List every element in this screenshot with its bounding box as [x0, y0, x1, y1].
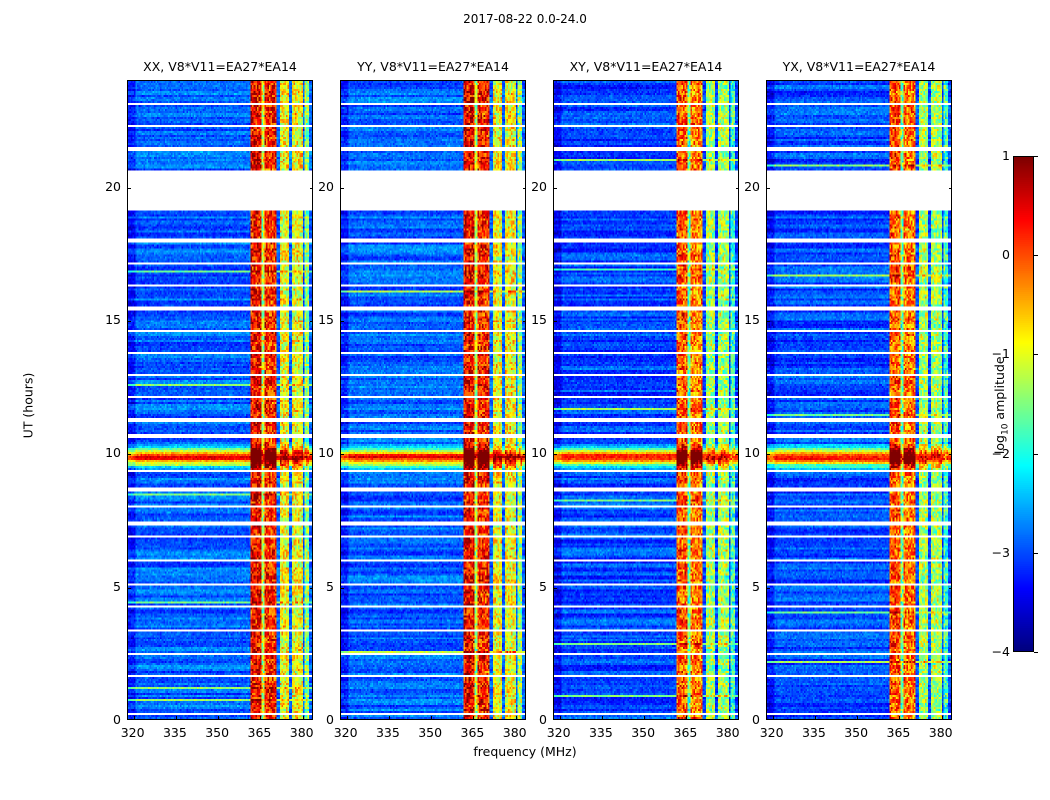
y-tick: [949, 188, 952, 189]
y-tick-label: 15: [726, 313, 760, 327]
y-tick-label: 0: [726, 713, 760, 727]
y-tick-label: 5: [513, 580, 547, 594]
y-tick: [340, 321, 344, 322]
x-tick-label: 365: [452, 726, 492, 740]
x-tick: [260, 716, 261, 720]
x-tick-label: 335: [368, 726, 408, 740]
y-tick: [553, 321, 557, 322]
y-tick-label: 0: [300, 713, 334, 727]
y-tick: [127, 588, 131, 589]
y-tick: [766, 188, 770, 189]
colorbar-label: log10 amplitude: [992, 315, 1011, 495]
x-tick: [389, 716, 390, 720]
colorbar-tick-label: −3: [990, 546, 1010, 560]
y-tick: [949, 454, 952, 455]
figure-canvas: 2017-08-22 0.0-24.0 XX, V8*V11=EA27*EA14…: [0, 0, 1050, 800]
y-tick-label: 15: [513, 313, 547, 327]
x-tick-label: 380: [708, 726, 748, 740]
x-tick-label: 365: [665, 726, 705, 740]
x-tick: [602, 716, 603, 720]
y-tick: [340, 454, 344, 455]
y-tick: [553, 454, 557, 455]
colorbar-label-suffix: amplitude: [992, 356, 1007, 423]
waterfall-panel-yx[interactable]: [766, 80, 952, 720]
y-tick: [127, 454, 131, 455]
colorbar-tick: [1034, 354, 1038, 355]
y-tick-label: 5: [87, 580, 121, 594]
x-axis-label: frequency (MHz): [0, 744, 1050, 759]
x-tick-label: 380: [921, 726, 961, 740]
waterfall-image-yx: [767, 81, 951, 719]
y-tick-label: 10: [513, 446, 547, 460]
panel-title-xy: XY, V8*V11=EA27*EA14: [553, 58, 739, 76]
waterfall-image-xx: [128, 81, 312, 719]
panel-title-yy: YY, V8*V11=EA27*EA14: [340, 58, 526, 76]
y-tick-label: 20: [87, 180, 121, 194]
colorbar-tick: [1034, 156, 1038, 157]
colorbar-tick-label: 0: [990, 248, 1010, 262]
figure-suptitle: 2017-08-22 0.0-24.0: [0, 12, 1050, 26]
y-tick-label: 5: [726, 580, 760, 594]
x-tick: [815, 716, 816, 720]
x-tick: [857, 716, 858, 720]
y-tick-label: 10: [87, 446, 121, 460]
x-tick: [218, 716, 219, 720]
y-tick: [949, 321, 952, 322]
x-tick: [686, 716, 687, 720]
colorbar-tick-label: −4: [990, 645, 1010, 659]
x-tick: [431, 716, 432, 720]
y-axis-label: UT (hours): [21, 336, 36, 476]
x-tick: [176, 716, 177, 720]
x-tick-label: 335: [581, 726, 621, 740]
x-tick: [899, 716, 900, 720]
x-tick: [773, 716, 774, 720]
x-tick-label: 320: [539, 726, 579, 740]
x-tick-label: 350: [836, 726, 876, 740]
waterfall-image-xy: [554, 81, 738, 719]
x-tick-label: 335: [794, 726, 834, 740]
waterfall-image-yy: [341, 81, 525, 719]
y-tick-label: 10: [726, 446, 760, 460]
x-tick: [942, 716, 943, 720]
y-tick-label: 20: [726, 180, 760, 194]
x-tick: [473, 716, 474, 720]
panel-title-yx: YX, V8*V11=EA27*EA14: [766, 58, 952, 76]
waterfall-panel-yy[interactable]: [340, 80, 526, 720]
y-tick-label: 0: [87, 713, 121, 727]
y-tick: [766, 588, 770, 589]
x-tick-label: 320: [113, 726, 153, 740]
x-tick: [560, 716, 561, 720]
colorbar-label-prefix: log: [992, 435, 1007, 454]
colorbar-label-subscript: 10: [1000, 424, 1010, 435]
y-tick: [949, 588, 952, 589]
x-tick-label: 350: [197, 726, 237, 740]
y-tick-label: 20: [300, 180, 334, 194]
colorbar-tick: [1034, 652, 1038, 653]
y-tick: [553, 188, 557, 189]
waterfall-panel-xx[interactable]: [127, 80, 313, 720]
panel-title-xx: XX, V8*V11=EA27*EA14: [127, 58, 313, 76]
y-tick-label: 15: [300, 313, 334, 327]
y-tick: [127, 321, 131, 322]
colorbar-tick: [1034, 553, 1038, 554]
y-tick: [766, 321, 770, 322]
x-tick: [134, 716, 135, 720]
x-tick: [644, 716, 645, 720]
y-tick: [553, 588, 557, 589]
x-tick-label: 320: [326, 726, 366, 740]
x-tick-label: 350: [623, 726, 663, 740]
colorbar-tick-label: 1: [990, 149, 1010, 163]
x-tick-label: 365: [878, 726, 918, 740]
waterfall-panel-xy[interactable]: [553, 80, 739, 720]
y-tick: [340, 588, 344, 589]
colorbar: [1013, 156, 1034, 652]
x-tick-label: 380: [282, 726, 322, 740]
y-tick-label: 0: [513, 713, 547, 727]
x-tick-label: 380: [495, 726, 535, 740]
y-tick-label: 5: [300, 580, 334, 594]
y-tick-label: 10: [300, 446, 334, 460]
x-tick-label: 335: [155, 726, 195, 740]
y-tick: [766, 454, 770, 455]
colorbar-gradient: [1014, 157, 1033, 651]
y-tick-label: 20: [513, 180, 547, 194]
y-tick: [340, 188, 344, 189]
y-tick: [127, 188, 131, 189]
y-tick-label: 15: [87, 313, 121, 327]
colorbar-tick: [1034, 454, 1038, 455]
x-tick-label: 365: [239, 726, 279, 740]
x-tick-label: 320: [752, 726, 792, 740]
x-tick-label: 350: [410, 726, 450, 740]
x-tick: [347, 716, 348, 720]
colorbar-tick: [1034, 255, 1038, 256]
